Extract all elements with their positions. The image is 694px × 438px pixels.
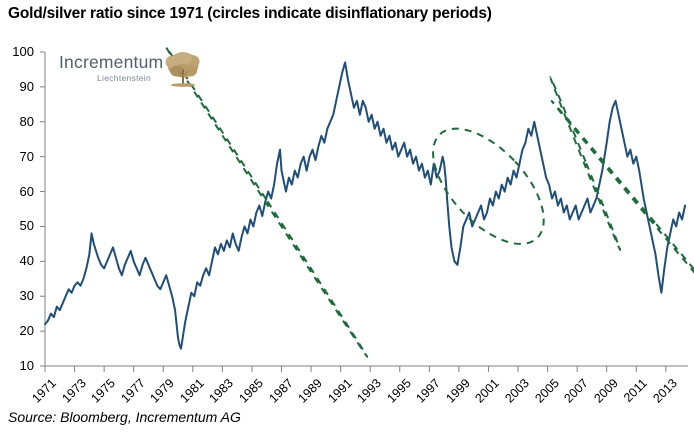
y-tick-label: 50 [2, 218, 34, 233]
data-series-group [45, 62, 685, 348]
y-tick-label: 90 [2, 79, 34, 94]
chart-root: Gold/silver ratio since 1971 (circles in… [0, 0, 694, 438]
y-tick-label: 20 [2, 323, 34, 338]
y-tick-label: 10 [2, 358, 34, 373]
data-line [45, 62, 685, 348]
disinflationary-period-3 [549, 77, 621, 251]
x-axis [45, 366, 688, 372]
annotation-ellipses-group [165, 47, 694, 358]
disinflationary-period-2 [413, 109, 563, 263]
source-note: Source: Bloomberg, Incrementum AG [8, 409, 241, 425]
y-tick-label: 100 [2, 44, 34, 59]
y-tick-label: 80 [2, 114, 34, 129]
y-tick-label: 60 [2, 184, 34, 199]
y-tick-label: 40 [2, 253, 34, 268]
y-tick-label: 70 [2, 149, 34, 164]
chart-plot-area [0, 0, 694, 438]
y-tick-label: 30 [2, 288, 34, 303]
y-axis [40, 52, 45, 366]
